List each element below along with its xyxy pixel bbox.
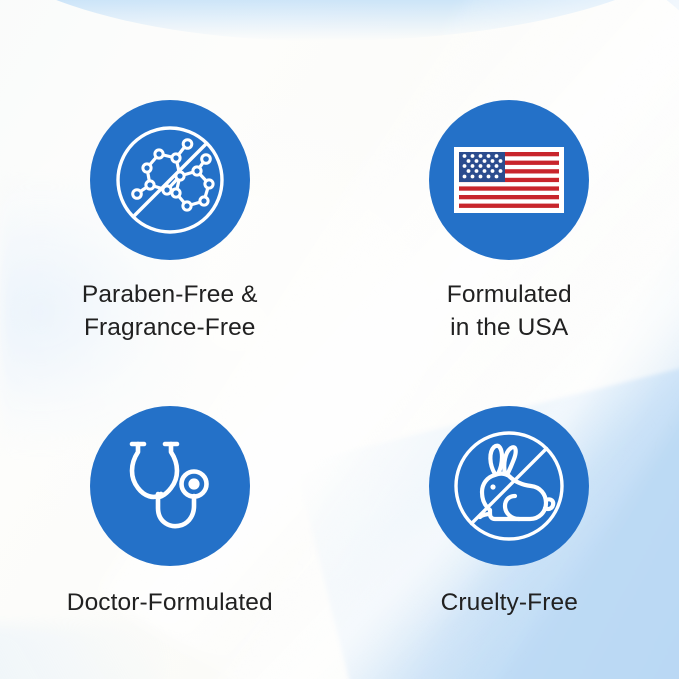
claim-icon-circle <box>429 406 589 566</box>
stethoscope-icon <box>114 430 226 542</box>
claim-caption: Formulated in the USA <box>447 279 572 344</box>
claim-icon-circle <box>90 406 250 566</box>
claims-grid: Paraben-Free & Fragrance-Free <box>0 0 679 679</box>
product-claims-graphic: Paraben-Free & Fragrance-Free <box>0 0 679 679</box>
no-parabens-molecule-icon <box>109 119 231 241</box>
claim-icon-circle <box>429 100 589 260</box>
no-rabbit-cruelty-free-icon <box>447 424 571 548</box>
claim-icon-circle <box>90 100 250 260</box>
claim-formulated-in-usa: Formulated in the USA <box>340 0 679 344</box>
claim-caption: Paraben-Free & Fragrance-Free <box>82 279 258 344</box>
claim-doctor-formulated: Doctor-Formulated <box>0 344 340 679</box>
claim-paraben-fragrance-free: Paraben-Free & Fragrance-Free <box>0 0 340 344</box>
claim-cruelty-free: Cruelty-Free <box>340 344 679 679</box>
claim-caption: Doctor-Formulated <box>67 587 273 620</box>
claim-caption: Cruelty-Free <box>441 587 578 620</box>
usa-flag-icon <box>450 121 568 239</box>
